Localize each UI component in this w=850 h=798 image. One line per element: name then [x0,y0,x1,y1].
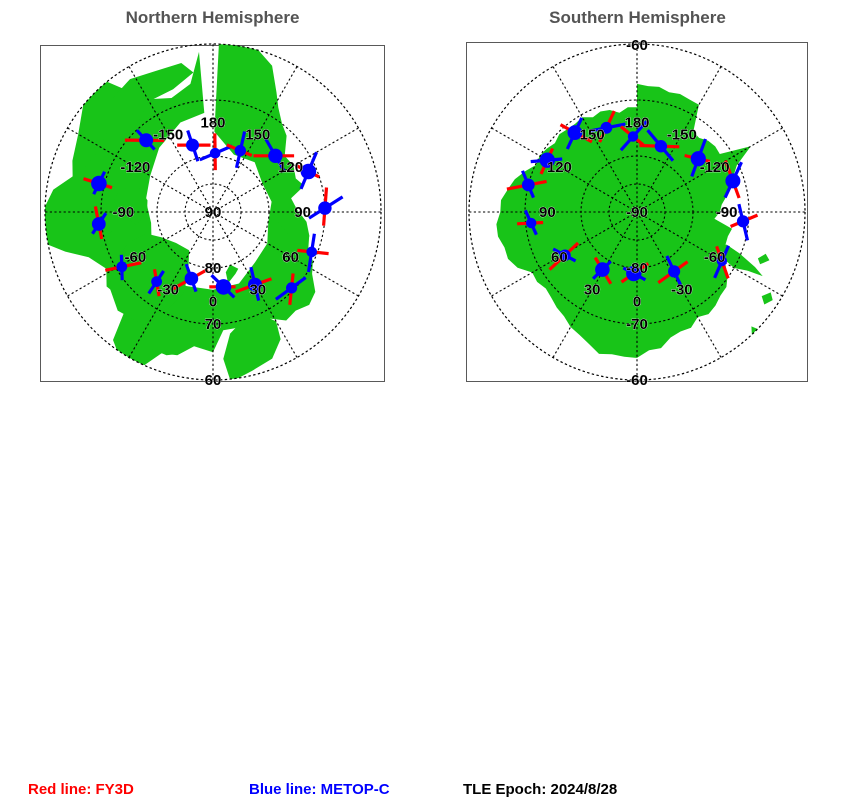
panel-northern-hemisphere: Northern Hemisphere 90807060180150120906… [0,0,425,425]
satellite-marker[interactable] [286,282,297,293]
label-longitude-60: 60 [282,249,299,266]
legend-bar: Red line: FY3D Blue line: METOP-C TLE Ep… [0,385,850,425]
polar-plot-northern: 908070601801501209060300-30-60-90-120-15… [0,0,425,425]
satellite-marker[interactable] [595,262,610,277]
satellite-marker[interactable] [139,133,153,147]
satellite-marker[interactable] [526,218,536,228]
satellite-marker[interactable] [210,148,221,159]
label-pole: -90 [626,204,648,221]
label-longitude-180: 180 [200,114,225,131]
landmass-layer [42,40,316,382]
legend-tle-epoch: TLE Epoch: 2024/8/28 [463,781,617,798]
label-pole: 90 [205,204,222,221]
label-latitude--70: -70 [626,316,648,333]
label-longitude-30: 30 [249,282,266,299]
label-longitude-0: 0 [209,294,217,311]
label-latitude-80: 80 [205,260,222,277]
satellite-marker[interactable] [235,145,246,156]
label-longitude--150: -150 [153,126,183,143]
panel-southern-hemisphere: Southern Hemisphere -90-80-70-60-6003060… [425,0,850,425]
land-south-shetland [762,292,773,304]
satellite-marker[interactable] [655,140,667,152]
label-longitude-120: 120 [547,159,572,176]
label-longitude-90: 90 [294,204,311,221]
satellite-marker[interactable] [306,247,317,258]
legend-blue-line: Blue line: METOP-C [249,781,390,798]
label-longitude-0: 0 [633,294,641,311]
label-longitude--150: -150 [667,126,697,143]
satellite-marker[interactable] [522,179,535,192]
polar-plot-southern: -90-80-70-60-600306090120150180-150-120-… [425,0,850,425]
satellite-marker[interactable] [185,272,199,286]
label-longitude--90: -90 [716,204,738,221]
satellite-marker[interactable] [186,139,199,152]
label-longitude--120: -120 [120,159,150,176]
label-longitude-90: 90 [539,204,556,221]
label-longitude--60: -60 [125,249,147,266]
label-longitude-30: 30 [584,282,601,299]
label-longitude--30: -30 [157,282,179,299]
land-alexander-island [758,254,770,264]
label-longitude-150: 150 [580,126,605,143]
label-longitude-150: 150 [245,126,270,143]
label-latitude--60-top: -60 [626,37,648,54]
satellite-marker[interactable] [92,217,106,231]
label-longitude--120: -120 [700,159,730,176]
label-longitude--30: -30 [671,282,693,299]
satellite-marker[interactable] [91,176,107,192]
label-longitude-60: 60 [551,249,568,266]
satellite-marker[interactable] [668,265,680,277]
figure-root: Northern Hemisphere 90807060180150120906… [0,0,850,425]
satellite-marker[interactable] [318,201,331,214]
label-latitude-70: 70 [205,316,222,333]
satellite-marker[interactable] [216,279,232,295]
satellite-marker[interactable] [737,215,749,227]
legend-red-line: Red line: FY3D [28,781,134,798]
label-longitude--90: -90 [113,204,135,221]
label-longitude-120: 120 [278,159,303,176]
label-latitude--80: -80 [626,260,648,277]
label-longitude--60: -60 [704,249,726,266]
label-longitude-180: 180 [624,114,649,131]
satellite-marker[interactable] [628,131,638,141]
